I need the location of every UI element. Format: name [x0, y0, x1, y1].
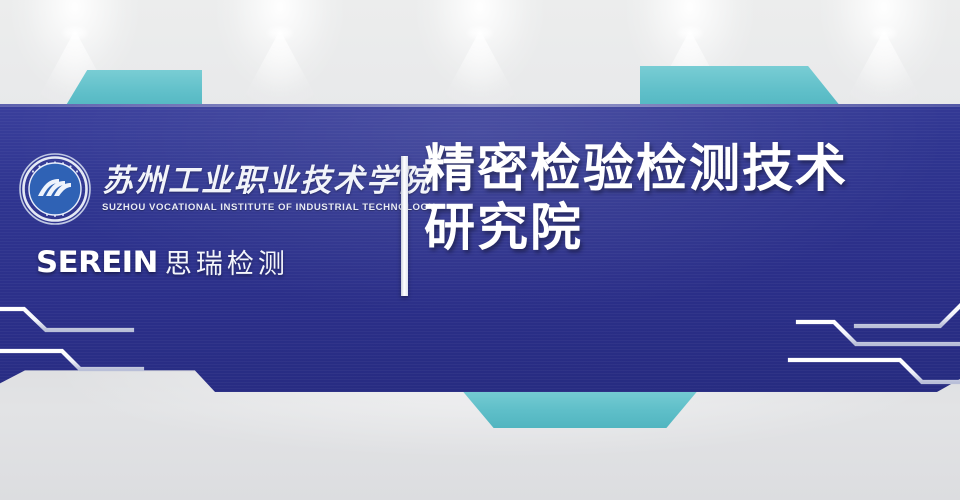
vertical-divider [401, 156, 408, 296]
school-name-group: 苏州工业职业技术学院 SUZHOU VOCATIONAL INSTITUTE O… [102, 165, 435, 213]
institute-title: 精密检验检测技术 研究院 [424, 140, 944, 258]
signage-scene: 苏州工业职业技术学院 SUZHOU VOCATIONAL INSTITUTE O… [0, 0, 960, 500]
panel-content: 苏州工业职业技术学院 SUZHOU VOCATIONAL INSTITUTE O… [0, 104, 960, 392]
school-name-en: SUZHOU VOCATIONAL INSTITUTE OF INDUSTRIA… [102, 202, 435, 213]
serein-brand-row: SEREIN 思瑞检测 [36, 242, 396, 281]
serein-wordmark-cn: 思瑞检测 [165, 242, 289, 281]
suzhou-institute-seal-icon [18, 152, 92, 226]
serein-wordmark: SEREIN [36, 245, 158, 279]
institute-title-line1: 精密检验检测技术 [424, 140, 944, 199]
institute-title-line2: 研究院 [424, 199, 944, 258]
institution-logo-block: 苏州工业职业技术学院 SUZHOU VOCATIONAL INSTITUTE O… [18, 152, 396, 281]
teal-trapezoid-bottom-center [460, 388, 700, 428]
school-name-cn: 苏州工业职业技术学院 [102, 165, 435, 196]
school-identity-row: 苏州工业职业技术学院 SUZHOU VOCATIONAL INSTITUTE O… [18, 152, 396, 226]
